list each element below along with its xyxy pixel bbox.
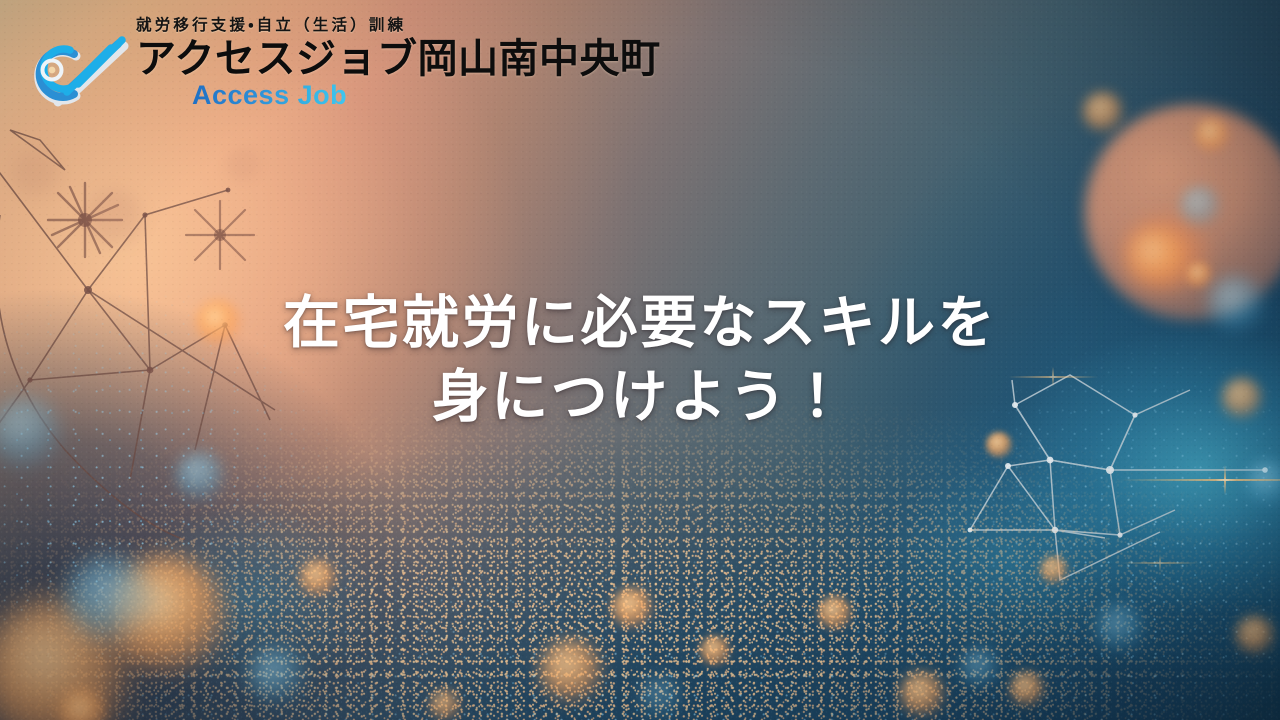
bokeh-dim — [12, 150, 60, 198]
headline-line-1: 在宅就労に必要なスキルを — [0, 286, 1280, 360]
network-starburst-left-2 — [180, 195, 260, 275]
logo-romaji: Access Job — [192, 82, 347, 109]
network-starburst-left — [40, 175, 130, 265]
logo-name: アクセスジョブ岡山南中央町 — [136, 39, 661, 80]
bokeh-dim — [86, 190, 144, 248]
headline-line-2: 身につけよう！ — [0, 360, 1280, 434]
bokeh-warm — [1083, 92, 1123, 132]
logo-text-block: 就労移行支援・自立（生活）訓練 アクセスジョブ岡山南中央町 Access Job — [136, 16, 661, 109]
headline: 在宅就労に必要なスキルを 身につけよう！ — [0, 286, 1280, 434]
bokeh-dim — [226, 148, 260, 182]
planet-highlight — [1120, 215, 1210, 295]
access-job-logo-mark-icon — [18, 22, 130, 126]
logo-tagline: 就労移行支援・自立（生活）訓練 — [136, 18, 406, 34]
slide-canvas: 就労移行支援・自立（生活）訓練 アクセスジョブ岡山南中央町 Access Job… — [0, 0, 1280, 720]
logo-lockup[interactable]: 就労移行支援・自立（生活）訓練 アクセスジョブ岡山南中央町 Access Job — [18, 16, 661, 126]
